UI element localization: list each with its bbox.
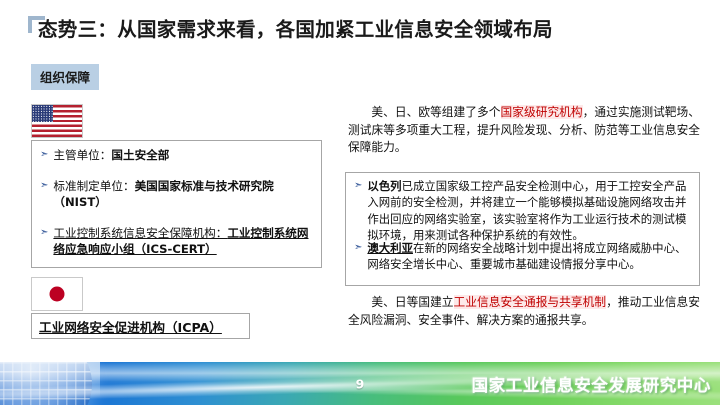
right-paragraph-bottom: 美、日等国建立工业信息安全通报与共享机制，推动工业信息安全风险漏洞、安全事件、解… [348, 294, 700, 329]
footer-organization-name: 国家工业信息安全发展研究中心 [472, 372, 711, 396]
united-states-flag-icon [31, 104, 83, 138]
paragraph-bottom-highlight: 工业信息安全通报与共享机制 [454, 295, 607, 309]
other-countries-box: ➣ 以色列已成立国家级工控产品安全检测中心，用于工控安全产品入网前的安全检测，并… [345, 172, 700, 286]
paragraph-top-highlight: 国家级研究机构 [501, 105, 583, 119]
australia-bullet-text: 澳大利亚在新的网络安全战略计划中提出将成立网络威胁中心、网络安全增长中心、重要城… [367, 240, 691, 273]
list-item: ➣ 标准制定单位：美国国家标准与技术研究院（NIST） [40, 178, 314, 211]
bullet-arrow-icon: ➣ [354, 241, 362, 255]
bullet-arrow-icon: ➣ [40, 148, 48, 162]
us-flag-canton [32, 105, 53, 122]
paragraph-top-before: 美、日、欧等组建了多个 [371, 105, 500, 119]
paragraph-bottom-before: 美、日等国建立 [371, 295, 453, 309]
slide-footer: 9 国家工业信息安全发展研究中心 [0, 362, 720, 405]
us-agencies-box: ➣ 主管单位：国土安全部 ➣ 标准制定单位：美国国家标准与技术研究院（NIST）… [31, 140, 322, 268]
list-item: ➣ 澳大利亚在新的网络安全战略计划中提出将成立网络威胁中心、网络安全增长中心、重… [354, 240, 691, 273]
us-bullet-2-text: 标准制定单位：美国国家标准与技术研究院（NIST） [53, 178, 314, 211]
us-bullet-1-text: 主管单位：国土安全部 [53, 147, 314, 163]
page-title: 态势三：从国家需求来看，各国加紧工业信息安全领域布局 [38, 13, 553, 42]
japan-organization-label: 工业网络安全促进机构（ICPA） [32, 314, 249, 338]
slide-canvas: 态势三：从国家需求来看，各国加紧工业信息安全领域布局 组织保障 ➣ 主管单位：国… [0, 0, 720, 405]
list-item: ➣ 主管单位：国土安全部 [40, 147, 314, 163]
bullet-arrow-icon: ➣ [354, 179, 362, 193]
section-tag-organization: 组织保障 [31, 64, 99, 90]
list-item: ➣ 以色列已成立国家级工控产品安全检测中心，用于工控安全产品入网前的安全检测，并… [354, 178, 691, 244]
japan-flag-icon [31, 277, 83, 311]
bullet-arrow-icon: ➣ [40, 226, 48, 240]
japan-organization-box: 工业网络安全促进机构（ICPA） [31, 313, 250, 339]
right-paragraph-top: 美、日、欧等组建了多个国家级研究机构，通过实施测试靶场、测试床等多项重大工程，提… [348, 104, 700, 157]
bullet-arrow-icon: ➣ [40, 179, 48, 193]
japan-flag-disc [50, 287, 65, 302]
list-item: ➣ 工业控制系统信息安全保障机构：工业控制系统网络应急响应小组（ICS-CERT… [40, 225, 314, 258]
israel-bullet-text: 以色列已成立国家级工控产品安全检测中心，用于工控安全产品入网前的安全检测，并将建… [367, 178, 691, 244]
us-bullet-3-text: 工业控制系统信息安全保障机构：工业控制系统网络应急响应小组（ICS-CERT） [53, 225, 314, 258]
